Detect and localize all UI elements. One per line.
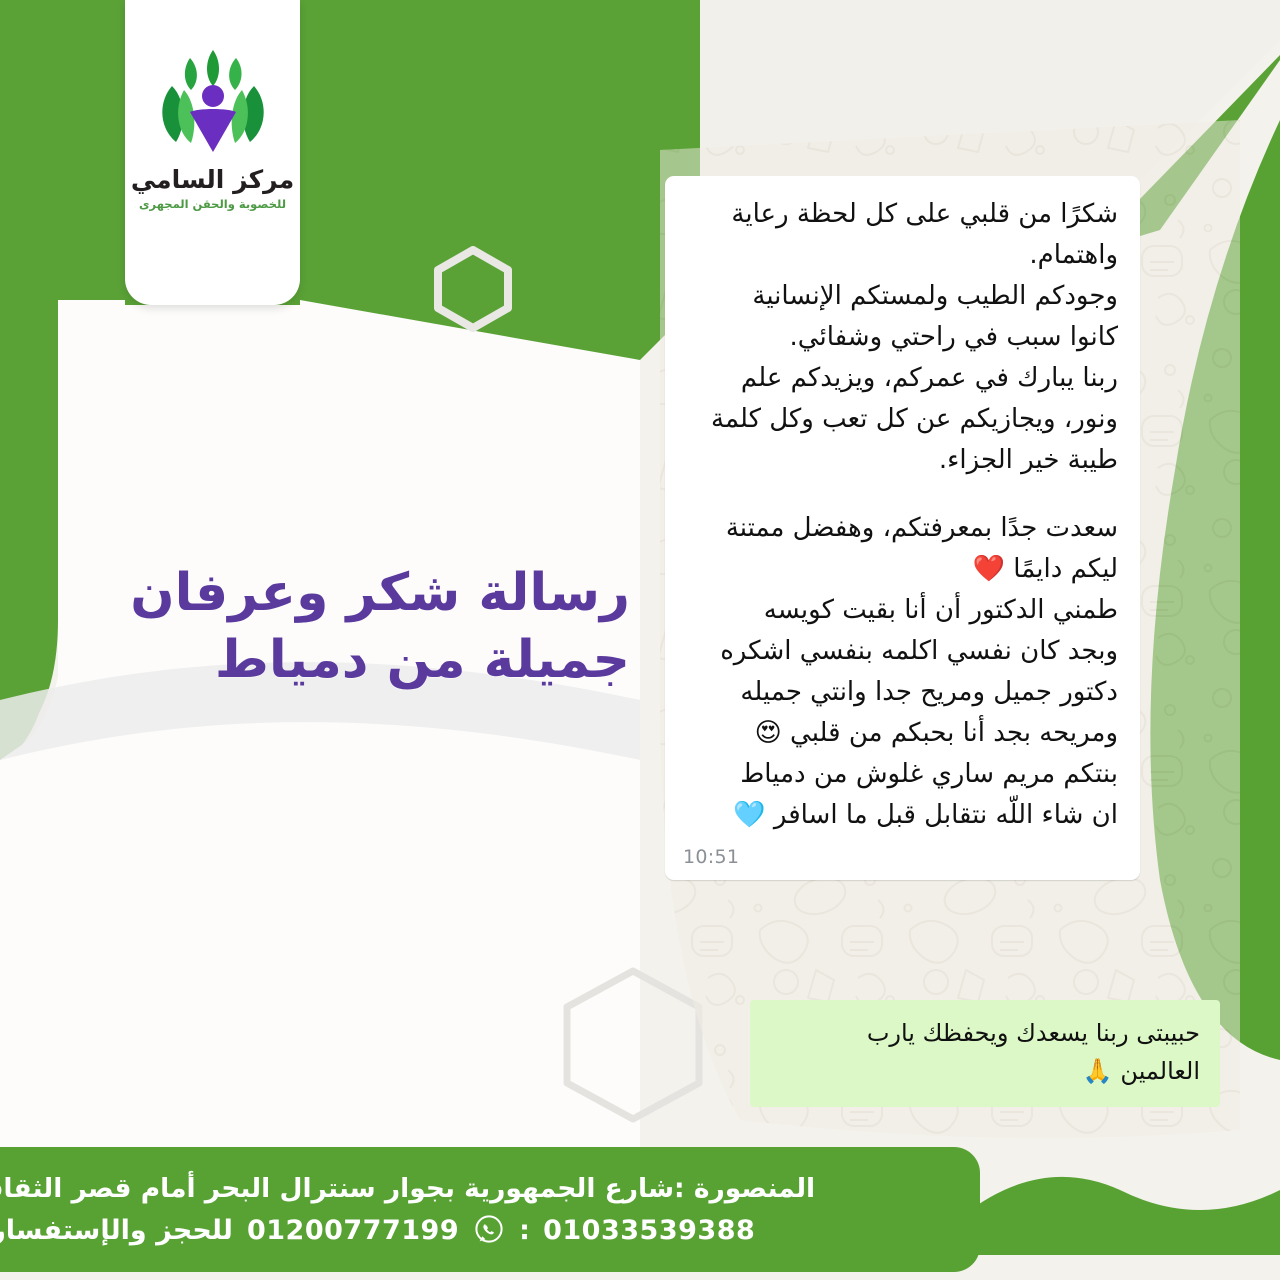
incoming-line: طيبة خير الجزاء. <box>683 440 1118 481</box>
chat-screenshot-panel: شكرًا من قلبي على كل لحظة رعاية واهتمام.… <box>600 0 1240 1160</box>
footer-separator: : <box>519 1215 529 1246</box>
incoming-line: بنتكم مريم ساري غلوش من دمياط <box>683 754 1118 795</box>
footer-phone-primary[interactable]: 01200777199 <box>247 1215 459 1246</box>
paragraph-gap <box>683 482 1118 508</box>
incoming-line: وجودكم الطيب ولمستكم الإنسانية <box>683 276 1118 317</box>
incoming-line: ونور، ويجازيكم عن كل تعب وكل كلمة <box>683 399 1118 440</box>
incoming-line: طمني الدكتور أن أنا بقيت كويسه <box>683 590 1118 631</box>
incoming-line: كانوا سبب في راحتي وشفائي. <box>683 317 1118 358</box>
incoming-line: شكرًا من قلبي على كل لحظة رعاية <box>683 194 1118 235</box>
footer-phone-secondary[interactable]: 01033539388 <box>543 1215 755 1246</box>
message-timestamp: 10:51 <box>683 842 1118 872</box>
footer-contact-bar: المنصورة :شارع الجمهورية بجوار سنترال ال… <box>0 1147 980 1272</box>
leaves-person-logo-icon <box>150 46 276 162</box>
incoming-line: ربنا يبارك في عمركم، ويزيدكم علم <box>683 358 1118 399</box>
incoming-line: سعدت جدًا بمعرفتكم، وهفضل ممتنة <box>683 508 1118 549</box>
brand-logo-card: مركز السامي للخصوبة والحقن المجهرى <box>125 0 300 305</box>
incoming-line: ان شاء اللّه نتقابل قبل ما اسافر 🩵 <box>683 795 1118 836</box>
headline-line-1: رسالة شكر وعرفان <box>130 560 630 627</box>
logo-subtitle: للخصوبة والحقن المجهرى <box>139 197 286 211</box>
incoming-line: وبجد كان نفسي اكلمه بنفسي اشكره <box>683 631 1118 672</box>
outgoing-line: حبيبتى ربنا يسعدك ويحفظك يارب <box>766 1014 1200 1052</box>
page-title: رسالة شكر وعرفان جميلة من دمياط <box>130 560 630 693</box>
incoming-line: ومريحه بجد أنا بحبكم من قلبي 😍 <box>683 713 1118 754</box>
poster-canvas: شكرًا من قلبي على كل لحظة رعاية واهتمام.… <box>0 0 1280 1280</box>
incoming-message-bubble[interactable]: شكرًا من قلبي على كل لحظة رعاية واهتمام.… <box>665 176 1140 880</box>
incoming-line: واهتمام. <box>683 235 1118 276</box>
logo-title: مركز السامي <box>131 167 294 192</box>
footer-address: المنصورة :شارع الجمهورية بجوار سنترال ال… <box>0 1173 815 1204</box>
outgoing-message-bubble[interactable]: حبيبتى ربنا يسعدك ويحفظك يارب العالمين 🙏 <box>750 1000 1220 1107</box>
incoming-line: دكتور جميل ومريح جدا وانتي جميله <box>683 672 1118 713</box>
whatsapp-icon[interactable] <box>473 1214 505 1246</box>
footer-contact-label: للحجز والإستفسار : <box>0 1215 233 1246</box>
incoming-line: ليكم دايمًا ❤️ <box>683 549 1118 590</box>
footer-contact-row: للحجز والإستفسار : 01200777199 : 0103353… <box>0 1214 755 1246</box>
outgoing-line: العالمين 🙏 <box>766 1052 1200 1090</box>
headline-line-2: جميلة من دمياط <box>130 627 630 694</box>
